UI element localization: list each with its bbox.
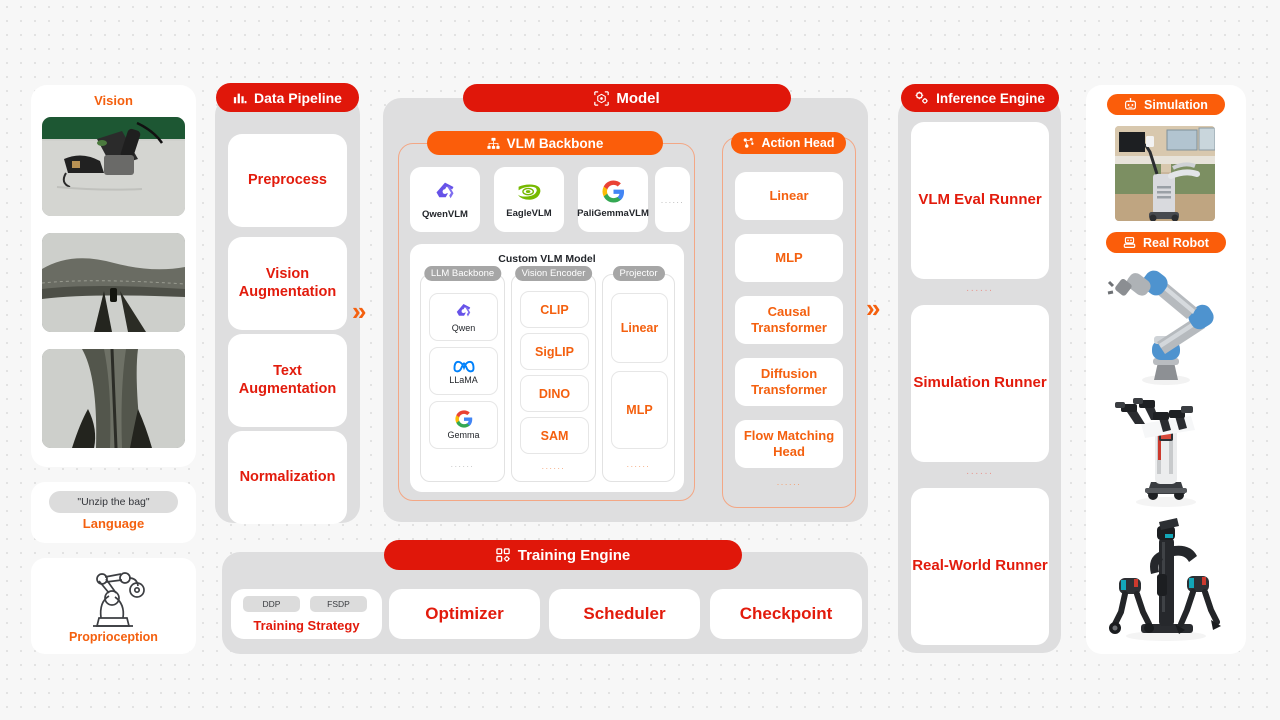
action-head-item-mlp[interactable]: MLP [735,234,843,282]
real-robot-image-3 [1101,512,1231,642]
custom-column-vision-encoder: Vision Encoder CLIP SigLIP DINO SAM ....… [511,274,596,482]
vlm-chip-label: QwenVLM [422,209,468,220]
ur-arm-robot-image [1101,262,1231,386]
action-head-item-diffusion-transformer[interactable]: Diffusion Transformer [735,358,843,406]
training-engine-header: Training Engine [384,540,742,570]
vision-more-dots: ...... [512,461,595,471]
vlm-chip-qwenvlm[interactable]: QwenVLM [410,167,480,232]
vision-frame-1 [42,117,185,216]
inference-engine-header: Inference Engine [901,84,1059,112]
training-engine-title: Training Engine [518,547,631,564]
vlm-chip-eaglevlm[interactable]: EagleVLM [494,167,564,232]
robot-arm-icon [31,568,196,630]
vlm-chip-more[interactable]: ...... [655,167,690,232]
vision-frame-2 [42,233,185,332]
custom-column-header: LLM Backbone [424,266,501,281]
vision-item-sam[interactable]: SAM [520,417,589,454]
vlm-chip-label: PaliGemmaVLM [577,208,649,219]
qwen-logo-icon [433,180,457,204]
llm-item-label: LLaMA [449,375,478,385]
real-robot-title: Real Robot [1143,236,1209,250]
custom-column-header: Projector [612,266,664,281]
meta-logo-icon [453,358,475,373]
vision-input-card: Vision [31,85,196,467]
simulation-image [1115,126,1215,221]
training-item-optimizer[interactable]: Optimizer [389,589,540,639]
google-logo-icon [602,180,625,203]
kitchen-sim-robot-image [1115,126,1215,221]
vlm-chip-paligemmavlm[interactable]: PaliGemmaVLM [578,167,648,232]
data-pipeline-panel: Preprocess Vision Augmentation Text Augm… [215,97,360,523]
robot-head-icon [1123,236,1136,249]
real-robot-image-1 [1101,262,1231,386]
model-header: Model [463,84,791,112]
real-robot-header: Real Robot [1106,232,1226,253]
inference-runner-vlm-eval[interactable]: VLM Eval Runner [911,122,1049,279]
simulation-header: Simulation [1107,94,1225,115]
qwen-logo-icon [454,302,473,321]
action-head-item-flow-matching-head[interactable]: Flow Matching Head [735,420,843,468]
custom-column-llm-backbone: LLM Backbone Qwen LLaMA [420,274,505,482]
training-strategy-chip-fsdp[interactable]: FSDP [310,596,367,612]
training-item-scheduler[interactable]: Scheduler [549,589,700,639]
dual-arm-mobile-robot-image [1101,390,1231,510]
vision-item-clip[interactable]: CLIP [520,291,589,328]
pipeline-step-text-augmentation[interactable]: Text Augmentation [228,334,347,427]
architecture-diagram: Vision [0,0,1280,720]
google-logo-icon [455,410,473,428]
proprioception-label: Proprioception [31,630,196,644]
bar-chart-icon [233,91,247,105]
vision-item-siglip[interactable]: SigLIP [520,333,589,370]
gears-icon [915,91,929,105]
pipeline-step-normalization[interactable]: Normalization [228,431,347,524]
action-head-title: Action Head [762,136,835,150]
vision-item-dino[interactable]: DINO [520,375,589,412]
custom-vlm-model-title: Custom VLM Model [410,253,684,265]
vlm-backbone-header: VLM Backbone [427,131,663,155]
real-robot-image-2 [1101,390,1231,510]
llm-item-llama[interactable]: LLaMA [429,347,498,395]
inference-separator-2: ...... [911,466,1049,477]
training-item-checkpoint[interactable]: Checkpoint [710,589,862,639]
pipeline-step-vision-augmentation[interactable]: Vision Augmentation [228,237,347,330]
custom-vlm-model-box: Custom VLM Model LLM Backbone Qwen LLaMA [410,244,684,492]
vlm-backbone-title: VLM Backbone [507,136,604,151]
vlm-chip-label: EagleVLM [506,208,551,219]
vision-frame-3 [42,349,185,448]
training-strategy-chip-ddp[interactable]: DDP [243,596,300,612]
inference-engine-title: Inference Engine [936,91,1045,106]
projector-item-linear[interactable]: Linear [611,293,668,363]
hierarchy-icon [487,137,500,150]
inference-separator-1: ...... [911,283,1049,294]
action-head-header: Action Head [731,132,846,154]
llm-item-label: Gemma [447,430,479,440]
language-input-card: "Unzip the bag" Language [31,482,196,543]
action-head-more-dots: ...... [735,477,843,487]
flow-arrow-2: » [866,293,875,324]
language-instruction-chip: "Unzip the bag" [49,491,178,513]
inference-runner-real-world[interactable]: Real-World Runner [911,488,1049,645]
llm-item-label: Qwen [452,323,476,333]
language-label: Language [31,516,196,531]
flow-arrow-1: » [352,296,361,327]
projector-more-dots: ...... [603,459,674,469]
action-head-item-linear[interactable]: Linear [735,172,843,220]
target-cube-icon [594,91,609,106]
llm-more-dots: ...... [421,459,504,469]
training-strategy-card[interactable]: DDP FSDP Training Strategy [231,589,382,639]
training-strategy-label: Training Strategy [231,618,382,633]
pipeline-step-preprocess[interactable]: Preprocess [228,134,347,227]
custom-column-projector: Projector Linear MLP ...... [602,274,675,482]
custom-column-header: Vision Encoder [515,266,593,281]
bag-zipper-closeup-2-image [42,349,185,448]
llm-item-qwen[interactable]: Qwen [429,293,498,341]
model-title: Model [616,90,659,107]
node-graph-icon [743,137,755,149]
data-pipeline-title: Data Pipeline [254,90,342,106]
data-pipeline-header: Data Pipeline [216,83,359,112]
humanoid-with-quadrupeds-image [1101,512,1231,642]
robot-face-icon [1124,98,1137,111]
nvidia-logo-icon [516,181,542,203]
inference-runner-simulation[interactable]: Simulation Runner [911,305,1049,462]
simulation-title: Simulation [1144,98,1208,112]
llm-item-gemma[interactable]: Gemma [429,401,498,449]
proprioception-input-card: Proprioception [31,558,196,654]
bag-zipper-closeup-1-image [42,233,185,332]
projector-item-mlp[interactable]: MLP [611,371,668,449]
modules-gear-icon [496,548,511,563]
vision-title: Vision [31,93,196,108]
robot-arm-on-table-image [42,117,185,216]
action-head-item-causal-transformer[interactable]: Causal Transformer [735,296,843,344]
